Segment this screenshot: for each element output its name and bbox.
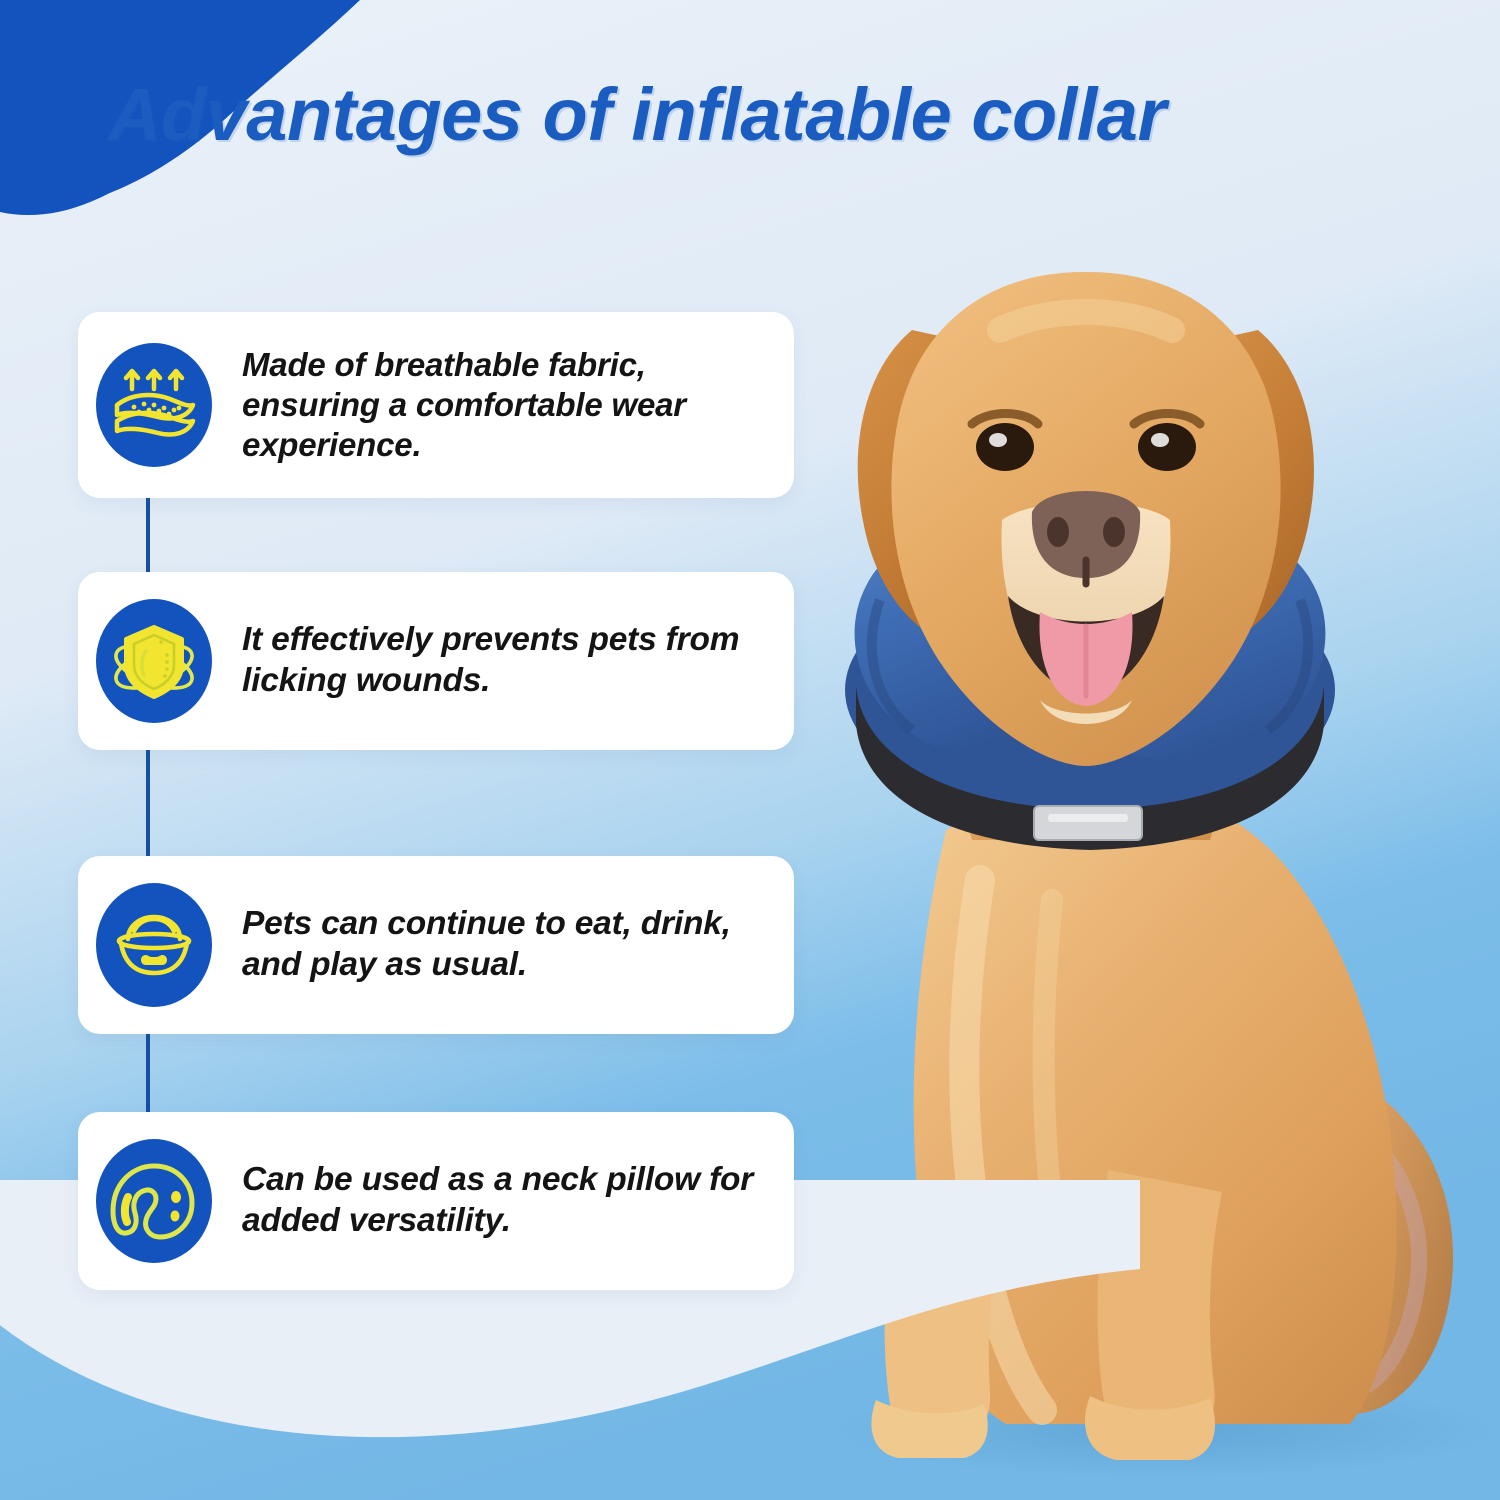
dog-eye-left	[976, 423, 1034, 471]
feature-text: Pets can continue to eat, drink, and pla…	[242, 904, 772, 986]
infographic-poster: Advantages of inflatable collar	[0, 0, 1500, 1500]
breathable-fabric-icon	[96, 343, 212, 467]
feature-card[interactable]: It effectively prevents pets from lickin…	[78, 572, 794, 750]
collar-buckle	[1034, 806, 1142, 840]
feature-card-list: Made of breathable fabric, ensuring a co…	[0, 0, 860, 1500]
feature-text: It effectively prevents pets from lickin…	[242, 620, 772, 702]
feature-card[interactable]: Can be used as a neck pillow for added v…	[78, 1112, 794, 1290]
feature-text: Made of breathable fabric, ensuring a co…	[242, 345, 772, 466]
shield-protection-icon	[96, 599, 212, 723]
dog-front-leg-left	[885, 1180, 1006, 1445]
feature-card[interactable]: Made of breathable fabric, ensuring a co…	[78, 312, 794, 498]
neck-pillow-icon	[96, 1139, 212, 1263]
feature-text: Can be used as a neck pillow for added v…	[242, 1160, 772, 1242]
dog-eye-right	[1138, 423, 1196, 471]
feature-card[interactable]: Pets can continue to eat, drink, and pla…	[78, 856, 794, 1034]
pet-food-bowl-icon	[96, 883, 212, 1007]
